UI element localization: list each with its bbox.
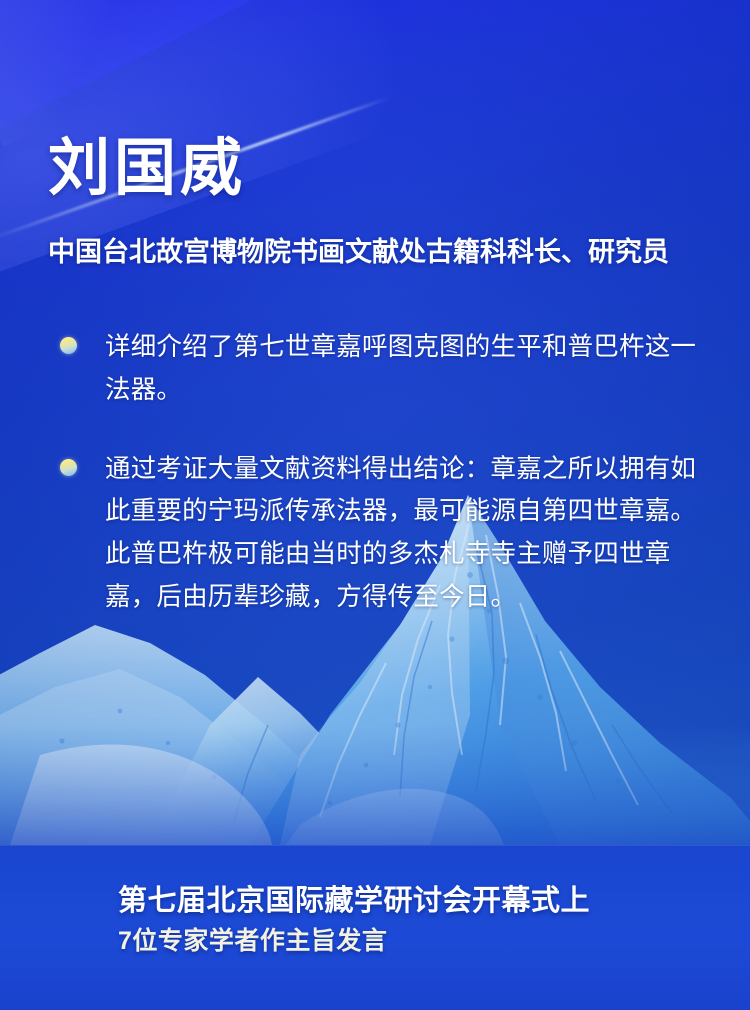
banner-subheadline: 7位专家学者作主旨发言 [118, 921, 387, 957]
speaker-title: 中国台北故宫博物院书画文献处古籍科科长、研究员 [48, 236, 669, 268]
list-item: 通过考证大量文献资料得出结论：章嘉之所以拥有如此重要的宁玛派传承法器，最可能源自… [60, 448, 708, 619]
list-item: 详细介绍了第七世章嘉呼图克图的生平和普巴杵这一法器。 [60, 326, 708, 412]
poster-canvas: 刘国威 中国台北故宫博物院书画文献处古籍科科长、研究员 详细介绍了第七世章嘉呼图… [0, 0, 750, 1010]
banner-headline: 第七届北京国际藏学研讨会开幕式上 [118, 877, 590, 919]
bottom-banner: 第七届北京国际藏学研讨会开幕式上 7位专家学者作主旨发言 [0, 845, 750, 1010]
bullet-text: 详细介绍了第七世章嘉呼图克图的生平和普巴杵这一法器。 [105, 326, 708, 412]
bullet-dot-icon [60, 337, 77, 354]
speaker-name: 刘国威 [48, 138, 246, 200]
bullet-text: 通过考证大量文献资料得出结论：章嘉之所以拥有如此重要的宁玛派传承法器，最可能源自… [105, 448, 708, 619]
bullet-dot-icon [60, 459, 77, 476]
bullet-list: 详细介绍了第七世章嘉呼图克图的生平和普巴杵这一法器。 通过考证大量文献资料得出结… [60, 326, 708, 655]
